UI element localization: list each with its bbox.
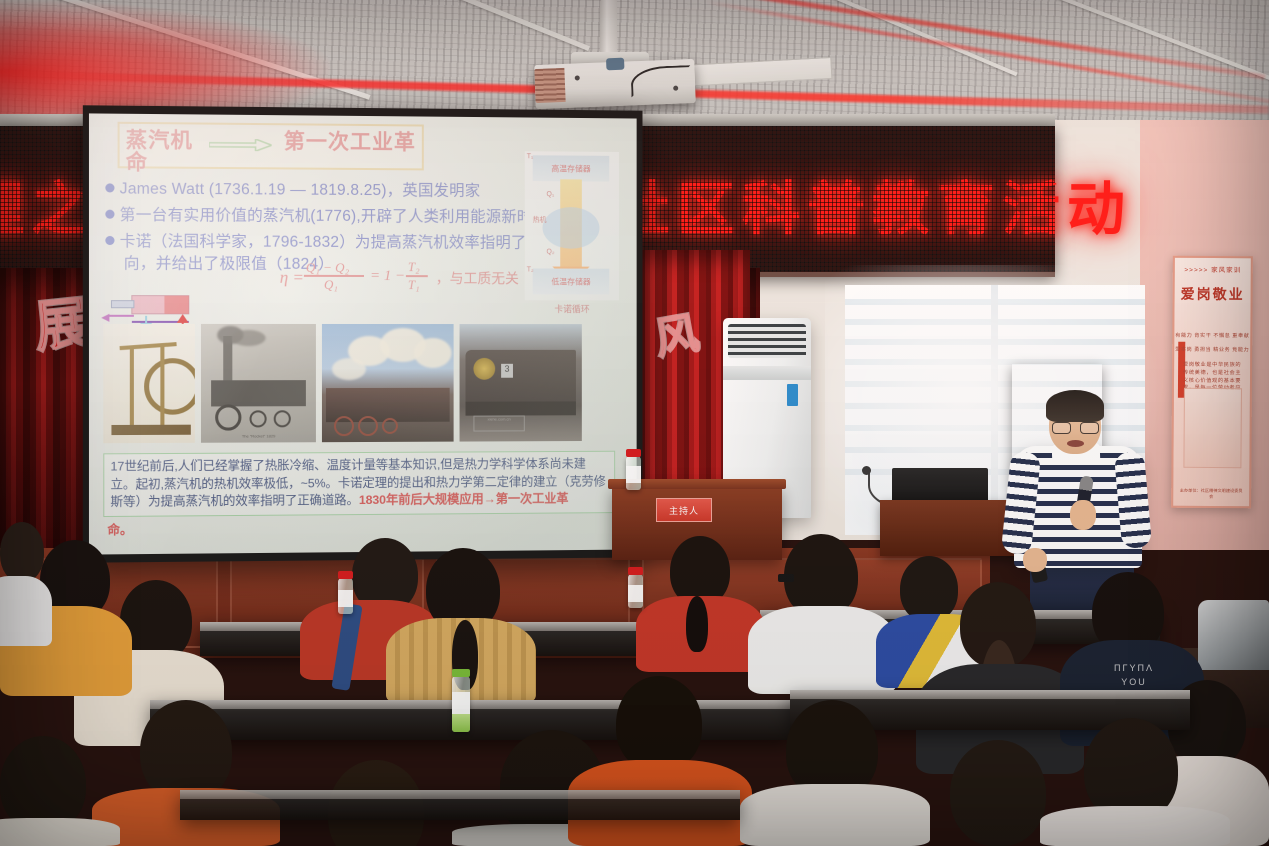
presenter-hair bbox=[1046, 390, 1104, 422]
slide-image-locomotive-engraving: The "Rocket" 1829 bbox=[201, 324, 316, 443]
audience-head bbox=[950, 740, 1046, 846]
wall-poster: >>>>> 家风家训 爱岗敬业 有能力 肯实干 不懈怠 重奉献 爱本岗 勇担当 … bbox=[1171, 256, 1253, 509]
train-wheel bbox=[334, 416, 354, 436]
engine-beam bbox=[120, 342, 177, 350]
carnot-cycle-diagram: 高温存储器 低温存储器 热机 Q₁ Q₂ T₁ T₂ 卡诺循环 bbox=[525, 151, 619, 300]
presentation-slide: 蒸汽机 命 第一次工业革 James Watt (1736.1.19 — 181… bbox=[89, 113, 637, 554]
ceiling-projector bbox=[534, 59, 696, 109]
glasses-icon bbox=[1080, 422, 1099, 434]
equation-denominator: Q₁ bbox=[324, 277, 338, 293]
bottle-cap-icon bbox=[452, 669, 470, 677]
audience-body bbox=[740, 784, 930, 846]
poster-header: >>>>> 家风家训 bbox=[1175, 264, 1251, 275]
hot-reservoir-box: 高温存储器 bbox=[533, 155, 610, 181]
engine-column bbox=[130, 346, 134, 429]
train-wheel bbox=[382, 418, 398, 434]
lecture-hall-photo: 理之 社区科普教育活动 展 风 bbox=[0, 0, 1269, 846]
projector-vent-icon bbox=[534, 68, 565, 103]
equation-tail: ，与工质无关 bbox=[436, 268, 519, 288]
slide-note-tail: 命。 bbox=[107, 520, 132, 538]
projector-cable bbox=[630, 65, 691, 97]
engine-circle-icon bbox=[543, 207, 600, 249]
slide-bullet-3: 卡诺（法国科学家，1796-1832）为提高蒸汽机效率指明了方 bbox=[105, 229, 542, 253]
locomotive-number: 3 bbox=[501, 364, 513, 378]
desk-row-front bbox=[180, 790, 740, 820]
ac-band bbox=[723, 366, 811, 380]
poster-line-2: 爱本岗 勇担当 精业务 竞能力 bbox=[1174, 346, 1250, 354]
host-nameplate: 主持人 bbox=[656, 498, 712, 522]
audience-head bbox=[140, 700, 232, 802]
audience-body bbox=[0, 576, 52, 646]
audience-head bbox=[0, 522, 44, 582]
poster-line-1: 有能力 肯实干 不懈怠 重奉献 bbox=[1174, 332, 1250, 340]
bottle-cap-icon bbox=[626, 449, 641, 457]
bottle-label bbox=[338, 590, 353, 607]
desk-surface bbox=[790, 690, 1190, 699]
engraving-wheel bbox=[274, 410, 291, 427]
poster-footer: 主办单位：社区精神文明建设委员会 bbox=[1179, 488, 1243, 500]
equation-t1: T₁ bbox=[408, 277, 420, 293]
bottle-label bbox=[626, 466, 641, 483]
poster-title: 爱岗敬业 bbox=[1175, 284, 1251, 305]
engraving-wheel bbox=[215, 404, 241, 430]
train-smoke-puff bbox=[414, 338, 452, 368]
t-cold-label: T₂ bbox=[527, 266, 534, 273]
projector-indicator bbox=[575, 75, 580, 80]
equation-numerator: Q₁ − Q₂ bbox=[306, 260, 349, 276]
cold-reservoir-box: 低温存储器 bbox=[533, 268, 610, 294]
bottle-on-desk bbox=[628, 574, 643, 608]
train-smoke-puff bbox=[332, 358, 366, 380]
engine-label: 热机 bbox=[533, 215, 547, 225]
projector-mount-pole bbox=[600, 0, 617, 58]
slide-bullet-1: James Watt (1736.1.19 — 1819.8.25)，英国发明家 bbox=[105, 176, 480, 200]
audience-body bbox=[0, 818, 120, 846]
equation-mid: = 1 − bbox=[370, 268, 405, 285]
engraving-caption: The "Rocket" 1829 bbox=[201, 433, 316, 439]
audience-head bbox=[900, 556, 958, 622]
bottle-on-desk bbox=[338, 578, 353, 614]
slide-bullet-2: 第一台有实用价值的蒸汽机(1776),开辟了人类利用能源新时代 bbox=[105, 203, 547, 227]
desk-surface bbox=[180, 790, 740, 799]
green-arrow-icon bbox=[209, 139, 272, 152]
engraving-wheel bbox=[250, 410, 267, 427]
bottle-cap-icon bbox=[338, 571, 353, 579]
audience-head bbox=[616, 676, 702, 772]
ponytail bbox=[686, 596, 708, 652]
bottle-on-lectern bbox=[626, 456, 641, 490]
t-hot-label: T₁ bbox=[527, 153, 534, 160]
projection-screen-frame: 蒸汽机 命 第一次工业革 James Watt (1736.1.19 — 181… bbox=[83, 105, 643, 562]
locomotive-emblem bbox=[473, 358, 495, 380]
red-light-wash bbox=[0, 0, 330, 120]
cold-reservoir-label: 低温存储器 bbox=[533, 276, 610, 287]
cycle-caption: 卡诺循环 bbox=[525, 302, 619, 315]
equation-t2: T₂ bbox=[408, 259, 420, 275]
poster-illustration bbox=[1183, 388, 1242, 468]
train-wheel bbox=[358, 416, 378, 436]
engraving-smoke bbox=[231, 330, 265, 346]
slide-image-watt-engine bbox=[103, 324, 195, 443]
green-tea-bottle bbox=[452, 676, 470, 732]
audience-body bbox=[748, 606, 896, 694]
flywheel-icon bbox=[144, 358, 195, 415]
slide-title-right: 第一次工业革 bbox=[284, 125, 416, 156]
led-banner-left-text: 理之 bbox=[0, 162, 96, 246]
glasses-icon bbox=[1052, 422, 1071, 434]
curtain-calligraphy: 风 bbox=[649, 297, 703, 368]
slide-image-steam-train bbox=[322, 324, 454, 442]
slide-title-wrap: 命 bbox=[126, 146, 148, 176]
jacket-on-chair bbox=[1198, 600, 1269, 670]
engraving-body bbox=[211, 380, 306, 406]
ac-energy-label bbox=[787, 384, 798, 406]
engine-column bbox=[160, 346, 164, 429]
projection-screen: 蒸汽机 命 第一次工业革 James Watt (1736.1.19 — 181… bbox=[89, 113, 637, 554]
bottle-cap-icon bbox=[628, 567, 643, 575]
ac-grille-icon bbox=[728, 324, 806, 358]
audience-body bbox=[1040, 806, 1230, 846]
projector-lens-icon bbox=[606, 58, 624, 71]
photo-watermark: xiehe.com.cn bbox=[473, 415, 524, 431]
equation-eta: η = bbox=[280, 268, 304, 288]
presenter-other-hand bbox=[1023, 548, 1047, 572]
slide-image-modern-locomotive: 3 xiehe.com.cn bbox=[460, 324, 582, 442]
window-mullion bbox=[991, 285, 998, 535]
q2-label: Q₂ bbox=[546, 249, 554, 256]
q1-label: Q₁ bbox=[546, 191, 554, 198]
mic-capsule-icon bbox=[862, 466, 871, 475]
led-banner-right-text: 社区科普教育活动 bbox=[612, 162, 1132, 246]
engine-base bbox=[111, 425, 190, 435]
slide-note-box: 17世纪前后,人们已经掌握了热胀冷缩、温度计量等基本知识,但是热力学科学体系尚未… bbox=[103, 451, 615, 517]
eyeglasses-side-icon bbox=[778, 574, 794, 582]
hot-reservoir-label: 高温存储器 bbox=[533, 163, 610, 174]
bottle-liquid bbox=[452, 714, 470, 732]
diesel-skirt bbox=[466, 401, 576, 415]
bottle-label bbox=[628, 585, 643, 602]
presenter-mouth bbox=[1067, 440, 1084, 447]
presenter-mic-hand bbox=[1070, 500, 1096, 530]
slide-note-highlight: 1830年前后大规模应用→第一次工业革 bbox=[359, 492, 569, 507]
